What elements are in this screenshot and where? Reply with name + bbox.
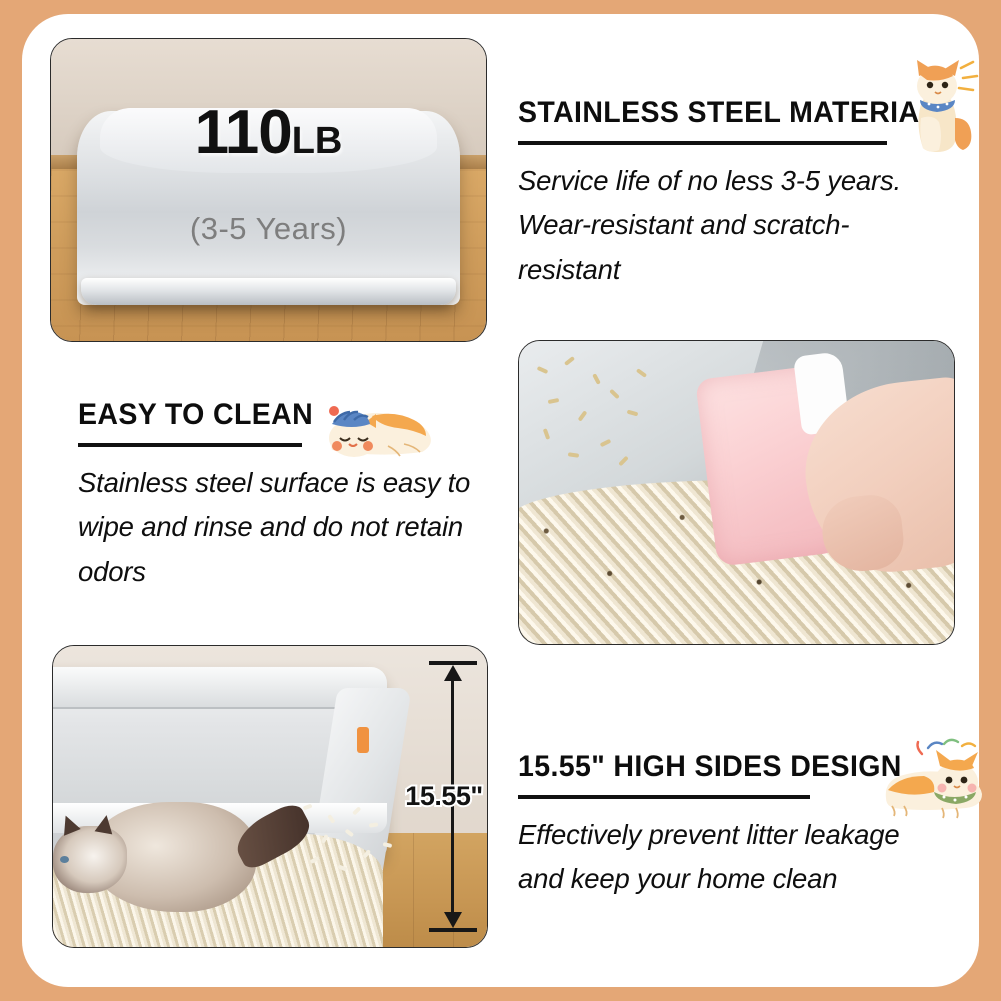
heading-underline — [518, 141, 887, 145]
photo-wipe-scene — [519, 341, 954, 644]
feature-body-text: Service life of no less 3-5 years. Wear-… — [518, 159, 938, 293]
height-dimension-label: 15.55" — [405, 781, 482, 812]
weight-unit: LB — [292, 120, 343, 162]
feature-body-text: Effectively prevent litter leakage and k… — [518, 813, 948, 902]
feature-heading: 15.55" HIGH SIDES DESIGN — [518, 750, 902, 784]
dimension-arrowhead-down-icon — [444, 912, 462, 928]
weight-capacity-label: 110LB — [51, 102, 486, 164]
feature-heading: EASY TO CLEAN — [78, 398, 313, 432]
feature-block-high-sides-design: 15.55" HIGH SIDES DESIGN Effectively pre… — [518, 750, 948, 902]
heading-underline — [518, 795, 810, 799]
product-photo-weight-capacity: 110LB (3-5 Years) — [50, 38, 487, 342]
feature-heading-row: 15.55" HIGH SIDES DESIGN — [518, 750, 948, 784]
feature-block-stainless-steel-material: STAINLESS STEEL MATERIAL Service life of… — [518, 96, 938, 292]
photo-weight-scene: 110LB (3-5 Years) — [51, 39, 486, 341]
feature-body-text: Stainless steel surface is easy to wipe … — [78, 461, 490, 595]
infographic-page: 110LB (3-5 Years) — [0, 0, 1001, 1001]
dimension-cap-bottom — [429, 928, 477, 932]
cat-photo-subject — [53, 791, 279, 929]
weight-value: 110 — [195, 98, 292, 167]
feature-block-easy-to-clean: EASY TO CLEAN Stainless steel surface is… — [78, 398, 490, 594]
product-photo-easy-clean — [518, 340, 955, 645]
dimension-arrowhead-up-icon — [444, 665, 462, 681]
feature-heading-row: STAINLESS STEEL MATERIAL — [518, 96, 938, 130]
cat-head — [53, 826, 127, 892]
orange-latch-icon — [357, 727, 369, 753]
feature-heading: STAINLESS STEEL MATERIAL — [518, 96, 937, 130]
cat-ear-right — [94, 814, 115, 835]
service-years-label: (3-5 Years) — [51, 211, 486, 247]
photo-height-scene: 15.55" — [53, 646, 487, 947]
heading-underline — [78, 443, 302, 447]
cat-eye — [60, 856, 69, 863]
feature-heading-row: EASY TO CLEAN — [78, 398, 490, 432]
product-photo-high-sides: 15.55" — [52, 645, 488, 948]
pan-rim-lip — [81, 278, 456, 305]
